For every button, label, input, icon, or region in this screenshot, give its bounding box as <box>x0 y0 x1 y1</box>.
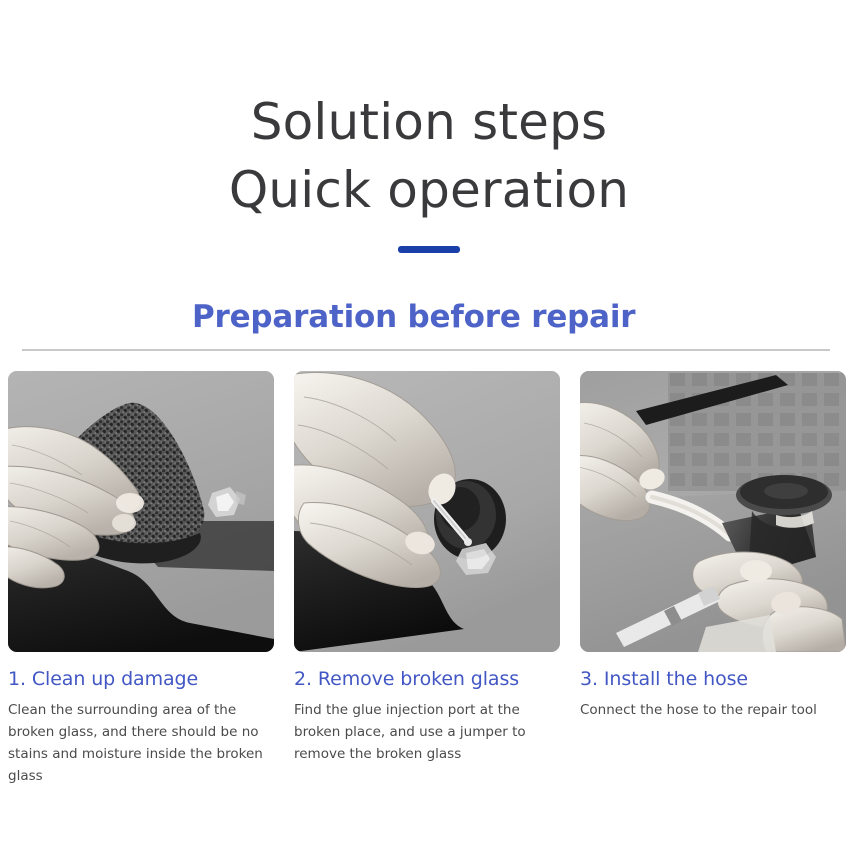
page-title-line-1: Solution steps <box>0 88 858 156</box>
page-title-line-2: Quick operation <box>0 156 858 224</box>
step-2-photo <box>294 371 560 652</box>
steps-row: 1. Clean up damage Clean the surrounding… <box>0 371 858 787</box>
section-divider-rule <box>22 349 830 351</box>
hands-connecting-hose-to-repair-tool-icon <box>580 371 846 652</box>
step-1-body: Clean the surrounding area of the broken… <box>8 699 274 787</box>
hand-wiping-glass-with-sponge-icon <box>8 371 274 652</box>
section-subtitle: Preparation before repair <box>0 299 858 335</box>
step-1-photo <box>8 371 274 652</box>
title-divider-wrap <box>0 246 858 253</box>
step-3-photo <box>580 371 846 652</box>
step-3-body: Connect the hose to the repair tool <box>580 699 846 721</box>
step-card-3: 3. Install the hose Connect the hose to … <box>580 371 846 721</box>
step-2-heading: 2. Remove broken glass <box>294 668 560 690</box>
step-1-heading: 1. Clean up damage <box>8 668 274 690</box>
step-card-2: 2. Remove broken glass Find the glue inj… <box>294 371 560 765</box>
hand-using-jumper-pin-on-chip-icon <box>294 371 560 652</box>
infographic-page: Solution steps Quick operation Preparati… <box>0 0 858 858</box>
step-2-body: Find the glue injection port at the brok… <box>294 699 560 765</box>
step-3-heading: 3. Install the hose <box>580 668 846 690</box>
page-header: Solution steps Quick operation <box>0 0 858 253</box>
step-card-1: 1. Clean up damage Clean the surrounding… <box>8 371 274 787</box>
title-divider <box>398 246 460 253</box>
